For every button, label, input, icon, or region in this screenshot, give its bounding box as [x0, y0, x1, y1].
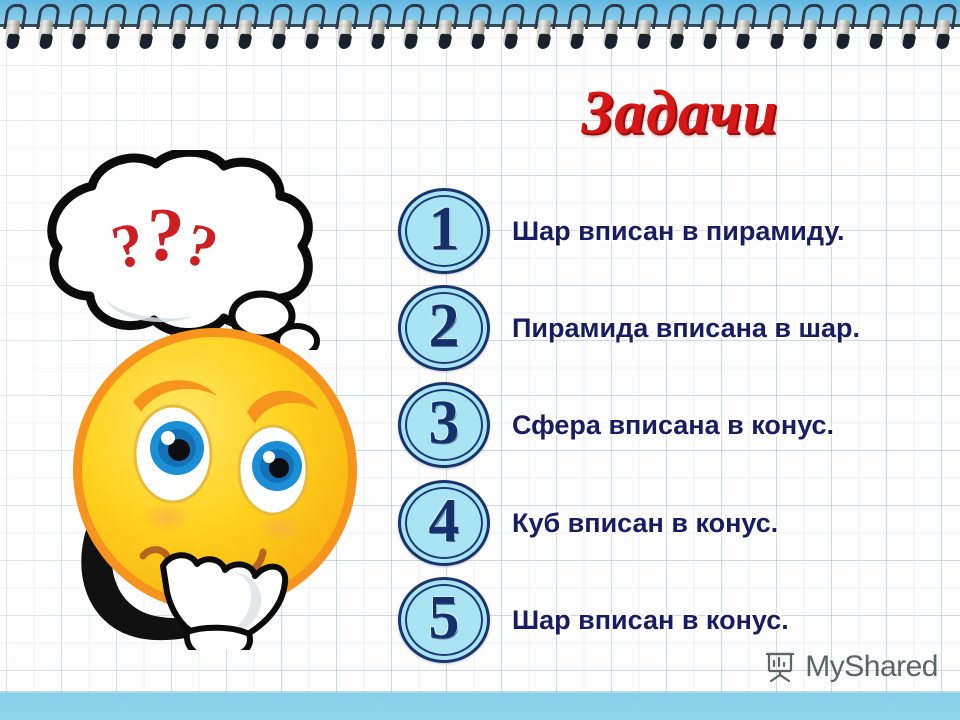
spiral-coil: [334, 4, 356, 52]
spiral-coil: [566, 4, 588, 52]
spiral-coil: [268, 4, 290, 52]
spiral-coil: [766, 4, 788, 52]
spiral-coil: [301, 4, 323, 52]
task-text: Пирамида вписана в шар.: [512, 313, 860, 344]
spiral-coil: [400, 4, 422, 52]
spiral-coil: [898, 4, 920, 52]
spiral-coil: [500, 4, 522, 52]
spiral-coil: [732, 4, 754, 52]
myshared-brand-text: MyShared: [805, 650, 938, 684]
smiley-blush-left: [141, 503, 193, 533]
slide-canvas: Задачи ???: [0, 0, 960, 720]
thinking-smiley: [55, 320, 385, 650]
spiral-coil: [699, 4, 721, 52]
task-number: 1: [429, 198, 460, 260]
spiral-coil: [633, 4, 655, 52]
spiral-coil: [2, 4, 24, 52]
spiral-coil: [533, 4, 555, 52]
spiral-coil: [434, 4, 456, 52]
task-text: Шар вписан в пирамиду.: [512, 216, 845, 247]
smiley-face-graphic: [55, 320, 385, 650]
task-row[interactable]: 3Сфера вписана в конус.: [398, 380, 938, 470]
task-number-badge[interactable]: 3: [398, 382, 490, 468]
presentation-chart-icon: [763, 650, 797, 684]
spiral-coil: [600, 4, 622, 52]
task-number-badge[interactable]: 2: [398, 285, 490, 371]
task-number: 5: [429, 587, 460, 649]
task-row[interactable]: 4Куб вписан в конус.: [398, 478, 938, 568]
spiral-binding: [0, 0, 960, 56]
page-title: Задачи: [430, 78, 930, 148]
spiral-coil: [135, 4, 157, 52]
smiley-eye-left: [135, 406, 211, 502]
task-number: 2: [429, 295, 460, 357]
spiral-coil: [201, 4, 223, 52]
spiral-coil: [467, 4, 489, 52]
task-text: Шар вписан в конус.: [512, 605, 789, 636]
spiral-coil: [168, 4, 190, 52]
task-row[interactable]: 2Пирамида вписана в шар.: [398, 283, 938, 373]
spiral-coil: [234, 4, 256, 52]
task-number: 3: [429, 392, 460, 454]
spiral-coil: [865, 4, 887, 52]
task-number-badge[interactable]: 4: [398, 480, 490, 566]
myshared-watermark[interactable]: MyShared: [763, 650, 938, 684]
task-text: Куб вписан в конус.: [512, 508, 778, 539]
task-row[interactable]: 1Шар вписан в пирамиду.: [398, 186, 938, 276]
spiral-coil: [35, 4, 57, 52]
notebook-bottom-strip: [0, 693, 960, 720]
smiley-eye-right: [239, 426, 307, 514]
spiral-coil: [832, 4, 854, 52]
spiral-coil: [799, 4, 821, 52]
spiral-coil: [367, 4, 389, 52]
spiral-coil: [102, 4, 124, 52]
spiral-coil: [68, 4, 90, 52]
task-number: 4: [429, 490, 460, 552]
task-number-badge[interactable]: 5: [398, 577, 490, 663]
task-number-badge[interactable]: 1: [398, 188, 490, 274]
task-text: Сфера вписана в конус.: [512, 410, 834, 441]
smiley-blush-right: [257, 514, 305, 542]
spiral-coil: [666, 4, 688, 52]
spiral-coil: [932, 4, 954, 52]
